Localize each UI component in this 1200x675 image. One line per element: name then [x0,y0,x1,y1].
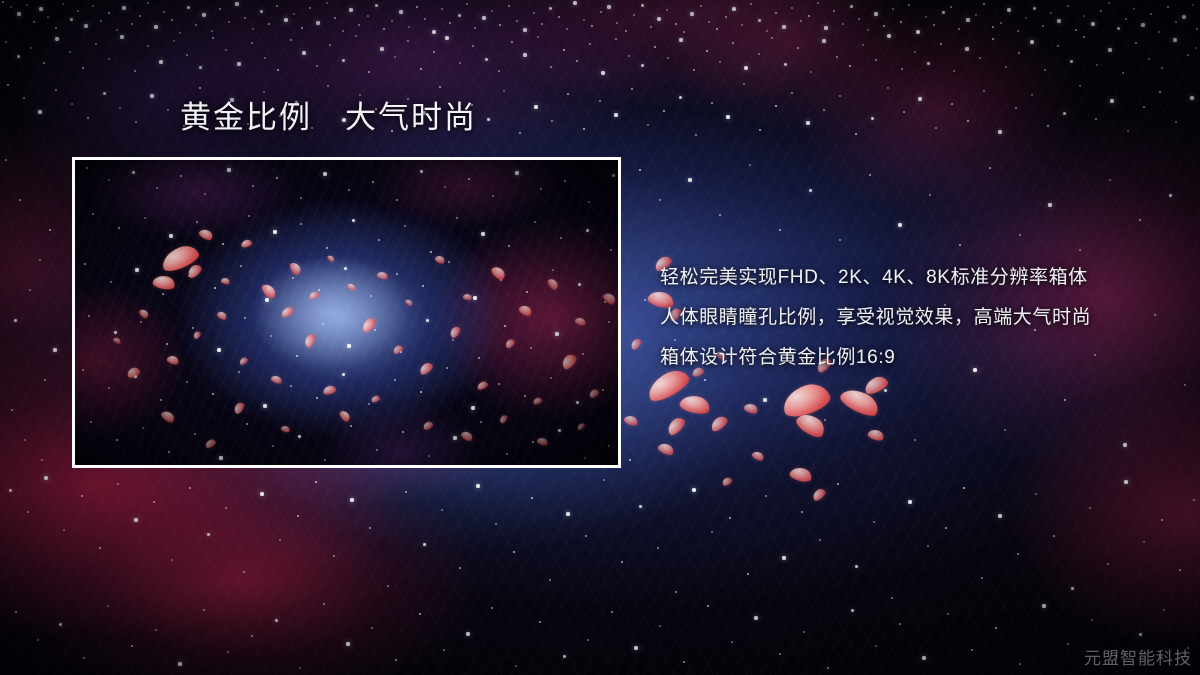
star [927,545,929,547]
star [466,3,468,5]
star [704,379,707,382]
star [675,591,677,593]
star [775,105,778,108]
flower-petal [623,414,639,428]
star [531,497,534,500]
star [951,103,954,106]
star [981,577,983,579]
star [836,56,838,58]
star [503,90,505,92]
star [824,419,826,421]
star [41,459,43,461]
star [898,223,901,226]
star [1089,507,1091,509]
flower-petal [708,414,729,433]
star [1091,619,1093,621]
star [947,613,949,615]
star [329,44,331,46]
star [29,289,31,291]
star [1063,112,1066,115]
star [808,15,811,18]
star [1108,2,1110,4]
star [959,244,962,247]
star [408,26,410,28]
star [716,28,719,31]
star [474,27,476,29]
star [533,12,535,14]
star [750,3,752,5]
star [784,63,787,66]
star [472,45,474,47]
page-title: 黄金比例 大气时尚 [180,100,477,136]
star [458,14,461,17]
star [69,51,71,53]
star [299,667,301,669]
star [423,543,426,546]
star [199,87,202,90]
star [163,11,165,13]
star [998,130,1001,133]
star [195,24,197,26]
star [858,18,860,20]
star [369,527,371,529]
star [17,12,20,15]
star [1075,29,1078,32]
star [1019,234,1021,236]
star [583,19,585,21]
star [741,24,743,26]
star [1107,563,1109,565]
star [70,18,73,21]
star [801,511,803,513]
star [63,529,65,531]
star [516,20,518,22]
star [449,22,452,25]
star [62,3,64,5]
star [1070,60,1073,63]
star [55,37,58,40]
star [120,35,123,38]
star [708,21,710,23]
star [82,67,85,70]
star [549,579,551,581]
star [327,85,329,87]
star [55,27,58,30]
star [358,24,360,26]
star [482,16,485,19]
star [875,59,878,62]
star [1124,480,1128,484]
star [1067,643,1069,645]
star [945,527,948,530]
star [495,523,497,525]
star [1117,27,1120,30]
star [871,117,874,120]
star [779,229,782,232]
star [901,68,903,70]
star [1184,384,1186,386]
star [1007,8,1010,11]
star [1122,72,1124,74]
star [263,91,265,93]
star [743,83,745,85]
star [10,6,12,8]
star [178,662,181,665]
star [824,26,827,29]
star [615,38,617,40]
star [77,10,79,12]
star [279,539,281,541]
star [726,115,730,119]
star [424,18,426,20]
star [747,573,750,576]
star [641,4,644,7]
star [563,655,566,658]
star [1083,15,1085,17]
star [225,49,227,51]
star [1033,7,1036,10]
flower-petal [678,393,711,417]
star [614,113,617,116]
star [346,642,349,645]
star [155,629,157,631]
star [1187,54,1189,56]
star [1169,194,1172,197]
star [116,29,118,31]
star [693,69,695,71]
star [1019,663,1021,665]
star [759,129,762,132]
star [284,18,288,22]
star [459,567,461,569]
star [666,9,668,11]
star [729,517,732,520]
star [639,169,642,172]
star [800,20,802,22]
star [766,30,768,32]
star [167,109,169,111]
star [1190,96,1193,99]
star [754,616,757,619]
star [850,5,853,8]
star [979,57,981,59]
star [383,28,386,31]
star [927,62,930,65]
star [1025,17,1027,19]
star [758,19,761,22]
star [791,7,793,9]
star [908,500,911,503]
star [700,5,702,7]
star [817,2,819,4]
star [1167,6,1170,9]
star [95,43,97,45]
copy-line-1: 轻松完美实现FHD、2K、4K、8K标准分辨率箱体 [660,258,1180,298]
star [491,607,493,609]
flower-petal [789,465,814,484]
star [7,84,10,87]
star [537,36,539,38]
star [839,239,841,241]
flower-petal [743,402,759,416]
star [695,134,697,136]
star [1163,609,1165,611]
star [1193,499,1195,501]
star [883,25,886,28]
star [775,12,778,15]
star [892,8,894,10]
star [99,547,102,550]
flower-petal [657,441,676,457]
star [629,459,632,462]
flower-petal [838,384,883,420]
star [589,43,591,45]
star [603,479,605,481]
star [2,1,5,4]
star [485,58,488,61]
star [654,46,657,49]
star [119,107,121,109]
star [855,565,858,568]
star [963,487,966,490]
star [359,94,361,96]
star [690,12,693,15]
star [342,59,345,62]
star [252,28,254,30]
star [633,14,635,16]
star [891,597,893,599]
star [39,7,43,11]
flower-petal [665,415,688,438]
star [1053,535,1056,538]
star [391,20,393,22]
star [187,6,190,9]
star [199,66,202,69]
star [998,514,1001,517]
star [749,164,751,166]
star [849,65,852,68]
star [100,20,102,22]
star [599,100,601,102]
flower-petal [629,337,643,351]
star [27,511,29,513]
star [1127,130,1129,132]
star [899,623,901,625]
flower-petal [867,428,885,443]
star [855,133,858,136]
star [706,50,709,53]
star [33,21,35,23]
star [819,539,821,541]
star [916,30,920,34]
star [237,62,240,65]
star [663,110,666,113]
star [1057,19,1060,22]
star [44,379,46,381]
star [1047,125,1050,128]
star [667,57,669,59]
star [1196,28,1199,31]
star [23,97,25,99]
star [323,603,325,605]
star [17,55,20,58]
star [914,439,916,441]
star [19,199,22,202]
star [659,625,661,627]
star [903,111,905,113]
star [925,16,927,18]
star [1005,66,1007,68]
star [108,12,111,15]
star [806,121,809,124]
star [1195,47,1197,49]
star [1110,99,1114,103]
star [833,10,836,13]
star [1091,22,1095,26]
star [675,23,678,26]
framed-vignette [75,160,618,465]
star [55,89,57,91]
flower-petal [779,379,833,420]
star [264,57,266,59]
star [147,45,149,47]
star [37,639,39,641]
star [416,6,419,9]
star [1159,91,1162,94]
star [765,495,767,497]
star [983,90,985,92]
star [810,71,812,73]
star [186,54,188,56]
star [631,88,633,90]
star [117,483,119,485]
star [513,551,516,554]
star [616,22,618,24]
star [884,389,887,392]
star [334,17,337,20]
star [5,41,7,43]
star [823,109,825,111]
star [244,17,246,19]
star [657,17,660,20]
star [992,26,995,29]
star [534,105,537,108]
star [1141,23,1144,26]
star [399,10,402,13]
star [1017,30,1019,32]
star [83,657,85,659]
star [573,1,577,5]
star [731,641,733,643]
star [30,47,32,49]
star [711,102,713,104]
star [39,259,41,261]
star [212,37,215,40]
star [1030,40,1034,44]
star [929,194,931,196]
star [14,319,17,322]
star [922,656,925,659]
star [782,556,785,559]
star [476,484,479,487]
star [1161,67,1164,70]
star [293,13,295,15]
star [900,21,903,24]
star [566,28,568,30]
star [154,25,158,29]
star [43,62,46,65]
star [375,4,378,7]
star [523,53,526,56]
star [862,44,864,46]
star [1079,85,1081,87]
star [639,505,642,508]
star [887,34,890,37]
star [277,69,280,72]
star [405,491,408,494]
star [707,605,710,608]
star [1057,45,1059,47]
star [445,36,449,40]
star [203,609,205,611]
star [439,86,441,88]
star [122,6,125,9]
star [260,492,264,496]
star [628,55,630,57]
star [797,47,800,50]
star [576,60,579,63]
star [558,16,561,19]
star [1067,5,1069,7]
star [309,7,311,9]
star [551,120,553,122]
star [47,16,49,18]
star [1004,429,1006,431]
star [971,649,974,652]
star [782,25,785,28]
star [839,95,841,97]
star [342,30,344,32]
star [550,66,552,68]
body-copy-block: 轻松完美实现FHD、2K、4K、8K标准分辨率箱体 人体眼睛瞳孔比例，享受视觉效… [660,258,1180,378]
star [1044,69,1046,71]
star [989,167,992,170]
star [1139,219,1142,222]
star [171,19,174,22]
star [235,2,238,5]
star [227,651,229,653]
star [950,6,952,8]
star [1083,36,1086,39]
star [371,627,373,629]
star [1179,569,1182,572]
star [869,174,871,176]
star [367,15,369,17]
star [499,24,502,27]
star [719,61,721,63]
star [1109,179,1111,181]
star [683,661,686,664]
star [1175,21,1177,23]
star [942,11,945,14]
star [1108,48,1111,51]
star [131,23,133,25]
star [53,348,56,351]
star [874,12,877,15]
star [87,117,90,120]
star [587,639,589,641]
star [150,94,153,97]
